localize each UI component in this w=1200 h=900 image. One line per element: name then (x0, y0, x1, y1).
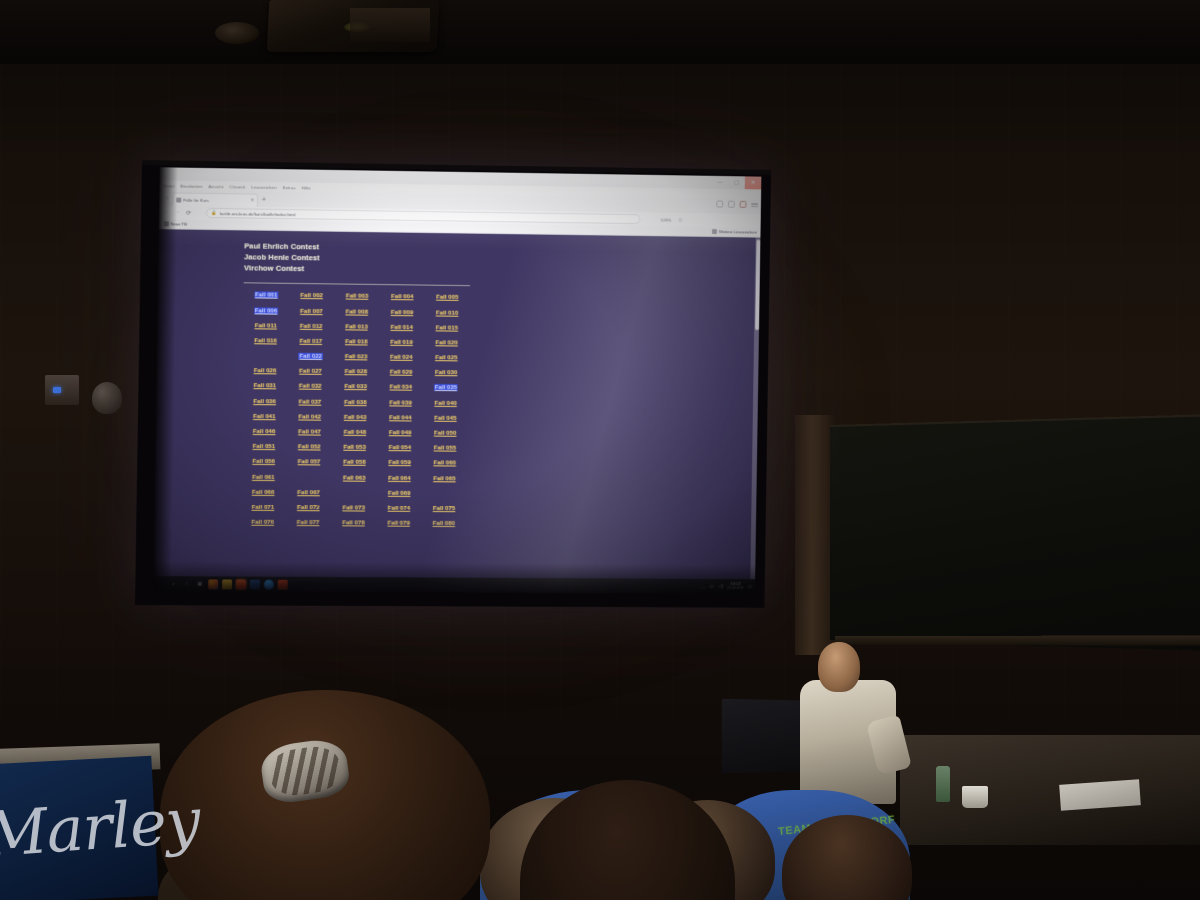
case-link-fall-039[interactable]: Fall 039 (389, 399, 411, 406)
case-link-fall-075[interactable]: Fall 075 (433, 505, 455, 512)
wall-control-box (45, 375, 79, 405)
case-link-cell: Fall 073 (331, 505, 376, 512)
case-link-cell: Fall 001 (243, 293, 289, 301)
case-link-fall-061[interactable]: Fall 061 (252, 473, 275, 480)
content-column: Paul Ehrlich Contest Jacob Henle Contest… (240, 241, 496, 528)
case-link-fall-058[interactable]: Fall 058 (343, 459, 366, 466)
cortana-icon[interactable]: ○ (182, 579, 191, 588)
mail-icon[interactable] (222, 579, 232, 589)
case-link-fall-063[interactable]: Fall 063 (343, 474, 366, 481)
word-icon[interactable] (250, 579, 260, 589)
case-link-fall-016[interactable]: Fall 016 (254, 337, 277, 344)
bookmark-star-icon[interactable]: ☆ (678, 216, 683, 223)
case-link-fall-037[interactable]: Fall 037 (299, 398, 322, 405)
menu-icon[interactable] (751, 201, 758, 208)
case-link-fall-047[interactable]: Fall 047 (298, 428, 321, 435)
case-link-cell: Fall 019 (379, 340, 424, 347)
case-link-fall-076[interactable]: Fall 076 (251, 519, 274, 526)
case-link-fall-043[interactable]: Fall 043 (344, 414, 367, 421)
folder-icon (712, 229, 716, 233)
case-link-fall-033[interactable]: Fall 033 (344, 384, 367, 391)
case-link-fall-022[interactable]: Fall 022 (298, 353, 323, 360)
case-link-cell: Fall 041 (242, 414, 288, 421)
case-link-cell: Fall 048 (332, 430, 377, 437)
case-link-fall-044[interactable]: Fall 044 (389, 414, 411, 421)
case-link-cell: Fall 045 (423, 415, 468, 422)
case-link-fall-006[interactable]: Fall 006 (254, 307, 279, 314)
zoom-level-label[interactable]: 120% (660, 217, 671, 222)
forward-button[interactable]: → (174, 209, 181, 215)
case-link-cell: Fall 056 (241, 459, 287, 466)
clock-date: 23.06.2022 (727, 587, 744, 591)
case-link-empty (422, 491, 467, 498)
case-link-cell: Fall 040 (423, 400, 468, 407)
case-link-cell: Fall 052 (287, 444, 332, 451)
case-link-cell: Fall 053 (332, 445, 377, 452)
case-link-fall-034[interactable]: Fall 034 (390, 384, 412, 391)
case-link-cell: Fall 044 (378, 415, 423, 422)
case-link-fall-064[interactable]: Fall 064 (388, 475, 410, 482)
case-link-cell: Fall 034 (378, 385, 423, 392)
case-link-cell: Fall 012 (288, 323, 333, 330)
case-link-fall-019[interactable]: Fall 019 (390, 339, 412, 346)
downloads-icon[interactable] (728, 201, 735, 208)
case-link-fall-051[interactable]: Fall 051 (253, 443, 276, 450)
tab-title: Fälle für Kurs (183, 197, 248, 203)
case-link-cell: Fall 024 (379, 355, 424, 362)
search-icon[interactable]: ⌕ (169, 579, 178, 588)
tab-scroll-left-icon[interactable]: ‹ (162, 190, 172, 205)
case-link-fall-002[interactable]: Fall 002 (300, 292, 323, 299)
case-link-fall-023[interactable]: Fall 023 (345, 353, 368, 360)
case-link-cell: Fall 010 (424, 310, 469, 317)
case-link-cell: Fall 031 (242, 384, 288, 391)
case-link-fall-029[interactable]: Fall 029 (390, 369, 412, 376)
case-link-cell: Fall 055 (422, 446, 467, 453)
case-link-cell: Fall 049 (377, 430, 422, 437)
case-link-cell: Fall 059 (377, 460, 422, 467)
case-link-fall-060[interactable]: Fall 060 (434, 460, 456, 467)
case-link-fall-015[interactable]: Fall 015 (436, 324, 458, 331)
case-link-cell: Fall 027 (288, 369, 333, 376)
case-link-fall-024[interactable]: Fall 024 (390, 354, 412, 361)
case-link-cell: Fall 035 (423, 385, 468, 392)
case-link-fall-079[interactable]: Fall 079 (387, 520, 409, 527)
case-link-cell: Fall 057 (286, 460, 331, 467)
case-link-fall-053[interactable]: Fall 053 (343, 444, 366, 451)
case-link-cell: Fall 050 (423, 431, 468, 438)
projection-screen: — ▢ ✕ Datei Bearbeiten Ansicht Chronik L… (135, 160, 771, 608)
menu-item-extras[interactable]: Extras (283, 185, 296, 190)
case-link-cell: Fall 069 (376, 491, 421, 498)
case-link-cell: Fall 074 (376, 506, 421, 513)
task-view-icon[interactable]: ▣ (195, 579, 204, 588)
teams-icon[interactable] (264, 579, 274, 589)
case-link-cell: Fall 033 (333, 384, 378, 391)
case-link-cell: Fall 018 (334, 339, 379, 346)
case-link-fall-052[interactable]: Fall 052 (298, 444, 321, 451)
new-tab-button[interactable]: + (262, 197, 266, 204)
case-link-cell: Fall 020 (424, 340, 469, 347)
case-link-cell: Fall 022 (288, 354, 333, 361)
case-link-cell: Fall 036 (242, 399, 288, 406)
case-link-fall-007[interactable]: Fall 007 (300, 307, 323, 314)
windows-taskbar: ⌕ ○ ▣ ︿ ▭ ◁) 14:02 23.06. (153, 576, 755, 594)
case-link-cell: Fall 047 (287, 429, 332, 436)
case-link-cell: Fall 079 (376, 521, 421, 528)
lock-icon: 🔒 (211, 210, 217, 216)
clock[interactable]: 14:02 23.06.2022 (727, 582, 744, 590)
wall-speaker (92, 382, 122, 414)
system-tray: ︿ ▭ ◁) 14:02 23.06.2022 ▭ (701, 582, 752, 590)
case-link-cell: Fall 067 (286, 490, 331, 497)
firefox-icon[interactable] (208, 579, 218, 589)
case-link-cell: Fall 026 (242, 368, 288, 375)
tab-close-icon[interactable]: ✕ (250, 198, 254, 204)
ceiling (0, 0, 1200, 64)
case-link-cell: Fall 043 (332, 415, 377, 422)
case-link-fall-042[interactable]: Fall 042 (299, 413, 322, 420)
case-link-fall-011[interactable]: Fall 011 (255, 322, 277, 329)
case-link-cell: Fall 014 (379, 324, 424, 331)
case-link-fall-005[interactable]: Fall 005 (436, 294, 458, 301)
case-link-fall-014[interactable]: Fall 014 (390, 324, 412, 331)
case-link-fall-001[interactable]: Fall 001 (254, 292, 279, 299)
schild-icon[interactable] (740, 201, 747, 208)
page-content: Paul Ehrlich Contest Jacob Henle Contest… (153, 229, 760, 579)
case-link-fall-080[interactable]: Fall 080 (433, 520, 455, 527)
other-bookmarks-label: Weitere Lesezeichen (719, 229, 757, 234)
case-link-cell: Fall 037 (287, 399, 332, 406)
case-link-fall-069[interactable]: Fall 069 (388, 490, 410, 497)
case-link-fall-059[interactable]: Fall 059 (388, 459, 410, 466)
case-link-cell: Fall 015 (424, 325, 469, 332)
case-link-cell: Fall 042 (287, 414, 332, 421)
case-link-cell: Fall 063 (331, 475, 376, 482)
case-link-cell: Fall 030 (424, 370, 469, 377)
case-link-empty (243, 353, 289, 360)
case-link-fall-072[interactable]: Fall 072 (297, 504, 320, 511)
menu-item-chronik[interactable]: Chronik (229, 184, 245, 189)
case-link-fall-049[interactable]: Fall 049 (389, 429, 411, 436)
case-link-fall-035[interactable]: Fall 035 (434, 384, 458, 391)
case-link-fall-050[interactable]: Fall 050 (434, 430, 456, 437)
case-link-empty (331, 490, 376, 497)
bookmark-label: Neue TB (170, 221, 186, 226)
case-link-fall-026[interactable]: Fall 026 (254, 367, 277, 374)
back-button[interactable]: ← (163, 209, 170, 215)
case-link-fall-031[interactable]: Fall 031 (254, 383, 277, 390)
chalkboard (830, 414, 1200, 652)
case-link-cell: Fall 071 (240, 505, 286, 512)
case-link-fall-018[interactable]: Fall 018 (345, 338, 368, 345)
case-link-cell: Fall 065 (422, 476, 467, 483)
heading-virchow: Virchow Contest (244, 263, 496, 277)
case-link-cell: Fall 006 (243, 308, 289, 316)
minimize-button[interactable]: — (712, 176, 729, 189)
case-link-cell: Fall 032 (288, 384, 333, 391)
case-link-cell: Fall 009 (379, 309, 424, 316)
case-link-fall-074[interactable]: Fall 074 (388, 505, 410, 512)
case-link-fall-078[interactable]: Fall 078 (342, 520, 365, 527)
case-link-cell: Fall 054 (377, 445, 422, 452)
case-link-cell: Fall 023 (333, 354, 378, 361)
case-link-fall-003[interactable]: Fall 003 (346, 293, 369, 300)
url-text: fachb.uni-kurs.de/kurs/faelle/index.html (220, 211, 296, 217)
start-icon[interactable] (156, 579, 165, 588)
case-link-fall-067[interactable]: Fall 067 (297, 489, 320, 496)
case-link-fall-010[interactable]: Fall 010 (436, 309, 458, 316)
case-link-fall-020[interactable]: Fall 020 (435, 339, 457, 346)
case-link-cell: Fall 076 (240, 520, 286, 527)
case-link-grid: Fall 001Fall 002Fall 003Fall 004Fall 005… (240, 293, 470, 529)
case-link-fall-013[interactable]: Fall 013 (345, 323, 368, 330)
case-link-fall-073[interactable]: Fall 073 (342, 504, 365, 511)
tab-faelle[interactable]: Fälle für Kurs ✕ (172, 192, 258, 206)
case-link-cell: Fall 080 (421, 521, 466, 528)
menu-item-bearbeiten[interactable]: Bearbeiten (180, 183, 202, 188)
tray-chevron-icon[interactable]: ︿ (701, 583, 706, 590)
case-link-fall-027[interactable]: Fall 027 (299, 368, 322, 375)
menu-item-hilfe[interactable]: Hilfe (302, 185, 311, 190)
page-scrollbar[interactable] (750, 238, 760, 580)
close-button[interactable]: ✕ (745, 176, 762, 189)
case-link-fall-009[interactable]: Fall 009 (391, 309, 413, 316)
case-link-cell: Fall 061 (241, 474, 287, 481)
case-link-cell: Fall 011 (243, 323, 289, 330)
case-link-fall-040[interactable]: Fall 040 (434, 400, 456, 407)
case-link-cell: Fall 038 (333, 400, 378, 407)
case-link-cell: Fall 007 (289, 308, 334, 316)
case-link-fall-017[interactable]: Fall 017 (300, 338, 323, 345)
reload-button[interactable]: ⟳ (185, 209, 192, 216)
case-link-cell: Fall 003 (334, 294, 379, 302)
menu-item-datei[interactable]: Datei (164, 183, 175, 188)
case-link-fall-048[interactable]: Fall 048 (344, 429, 367, 436)
case-link-cell: Fall 025 (424, 355, 469, 362)
case-link-fall-065[interactable]: Fall 065 (433, 475, 455, 482)
case-link-cell: Fall 002 (289, 293, 334, 301)
projected-image: — ▢ ✕ Datei Bearbeiten Ansicht Chronik L… (153, 167, 761, 594)
scrollbar-thumb[interactable] (755, 240, 760, 331)
case-link-fall-045[interactable]: Fall 045 (434, 415, 456, 422)
bookmark-favicon (164, 222, 169, 227)
volume-icon[interactable]: ◁) (718, 583, 723, 589)
case-link-fall-041[interactable]: Fall 041 (253, 413, 276, 420)
case-link-cell: Fall 008 (334, 309, 379, 316)
case-link-cell: Fall 039 (378, 400, 423, 407)
powerpoint-icon[interactable] (278, 579, 288, 589)
case-link-cell: Fall 051 (241, 444, 287, 451)
case-link-cell: Fall 013 (334, 324, 379, 331)
case-link-fall-054[interactable]: Fall 054 (389, 444, 411, 451)
ceiling-vent-icon (215, 22, 259, 44)
case-link-fall-071[interactable]: Fall 071 (252, 504, 275, 511)
case-link-fall-036[interactable]: Fall 036 (253, 398, 276, 405)
case-link-cell: Fall 072 (286, 505, 331, 512)
horizontal-rule (244, 283, 470, 287)
lecture-hall-photo: — ▢ ✕ Datei Bearbeiten Ansicht Chronik L… (0, 0, 1200, 900)
menu-item-ansicht[interactable]: Ansicht (208, 184, 223, 189)
case-link-cell: Fall 078 (331, 520, 376, 527)
action-center-icon[interactable]: ▭ (747, 584, 752, 590)
case-link-fall-012[interactable]: Fall 012 (300, 323, 323, 330)
case-link-fall-008[interactable]: Fall 008 (346, 308, 369, 315)
case-link-fall-077[interactable]: Fall 077 (297, 519, 320, 526)
case-link-fall-038[interactable]: Fall 038 (344, 399, 367, 406)
case-link-fall-004[interactable]: Fall 004 (391, 293, 413, 300)
menu-item-lesezeichen[interactable]: Lesezeichen (251, 184, 277, 189)
case-link-cell: Fall 058 (332, 460, 377, 467)
contest-headings: Paul Ehrlich Contest Jacob Henle Contest… (244, 241, 496, 276)
case-link-cell: Fall 028 (333, 369, 378, 376)
case-link-cell: Fall 064 (377, 475, 422, 482)
case-link-fall-055[interactable]: Fall 055 (434, 445, 456, 452)
bibliothek-icon[interactable] (716, 201, 723, 208)
case-link-cell: Fall 029 (378, 370, 423, 377)
case-link-fall-066[interactable]: Fall 066 (252, 489, 275, 496)
case-link-fall-057[interactable]: Fall 057 (298, 459, 321, 466)
case-link-fall-025[interactable]: Fall 025 (435, 354, 457, 361)
case-link-fall-056[interactable]: Fall 056 (252, 458, 275, 465)
case-link-fall-030[interactable]: Fall 030 (435, 369, 457, 376)
chrome-right-controls (716, 201, 758, 209)
chalkboard-rail (835, 636, 1200, 646)
projector-mount (350, 8, 430, 42)
case-link-cell: Fall 075 (421, 506, 466, 513)
case-link-cell: Fall 005 (425, 295, 470, 302)
case-link-cell: Fall 017 (288, 339, 333, 346)
bookmark-item[interactable]: Neue TB (164, 221, 187, 226)
pdf-icon[interactable] (236, 579, 246, 589)
browser-window: — ▢ ✕ Datei Bearbeiten Ansicht Chronik L… (153, 167, 761, 594)
case-link-cell: Fall 060 (422, 461, 467, 468)
status-led-icon (53, 387, 61, 393)
network-icon[interactable]: ▭ (709, 583, 714, 589)
case-link-empty (286, 475, 331, 482)
case-link-cell: Fall 077 (285, 520, 330, 527)
other-bookmarks-button[interactable]: Weitere Lesezeichen (712, 229, 756, 235)
case-link-cell: Fall 066 (240, 490, 286, 497)
case-link-fall-046[interactable]: Fall 046 (253, 428, 276, 435)
case-link-fall-028[interactable]: Fall 028 (345, 368, 368, 375)
case-link-fall-032[interactable]: Fall 032 (299, 383, 322, 390)
case-link-cell: Fall 046 (241, 429, 287, 436)
tab-favicon (176, 197, 181, 202)
case-link-cell: Fall 016 (243, 338, 289, 345)
maximize-button[interactable]: ▢ (728, 176, 745, 189)
case-link-cell: Fall 004 (380, 294, 425, 302)
